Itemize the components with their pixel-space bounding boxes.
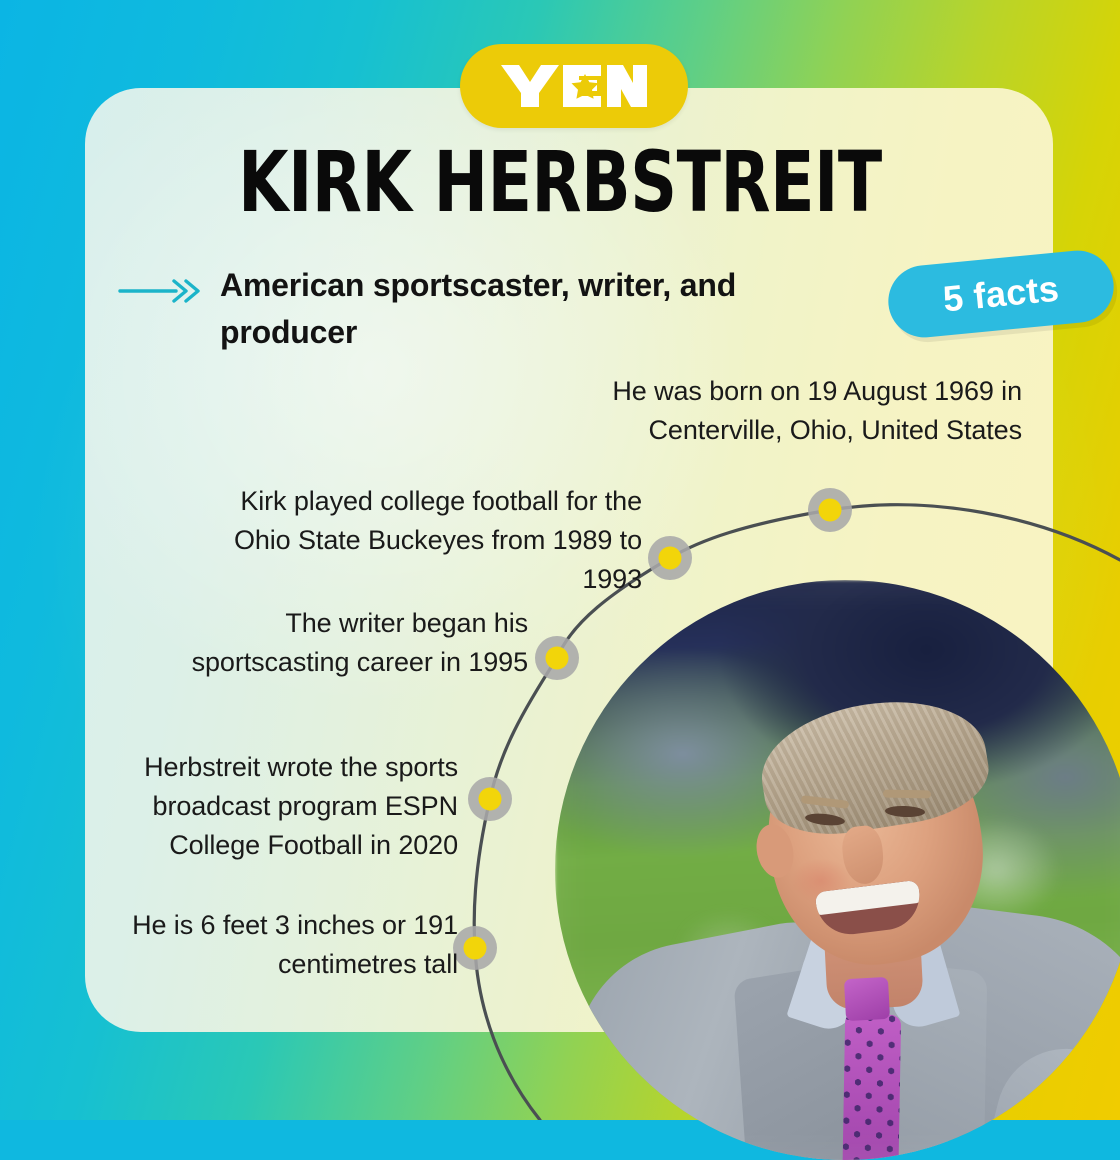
- subtitle-row: American sportscaster, writer, and produ…: [118, 262, 838, 357]
- fact-item: Herbstreit wrote the sports broadcast pr…: [100, 748, 458, 865]
- fact-item: The writer began his sportscasting caree…: [150, 604, 528, 682]
- yen-logo[interactable]: [460, 44, 688, 128]
- yen-logo-mark: [499, 63, 649, 109]
- photo-vignette: [555, 580, 1120, 1160]
- kirk-herbstreit-photo: [555, 580, 1120, 1160]
- fact-item: Kirk played college football for the Ohi…: [230, 482, 642, 599]
- arrow-right-double-chevron-icon: [118, 278, 204, 304]
- facts-count-label: 5 facts: [941, 268, 1061, 321]
- fact-item: He was born on 19 August 1969 in Centerv…: [560, 372, 1022, 450]
- subtitle-text: American sportscaster, writer, and produ…: [220, 262, 820, 357]
- page-title: KIRK HERBSTREIT: [78, 140, 1041, 224]
- fact-item: He is 6 feet 3 inches or 191 centimetres…: [100, 906, 458, 984]
